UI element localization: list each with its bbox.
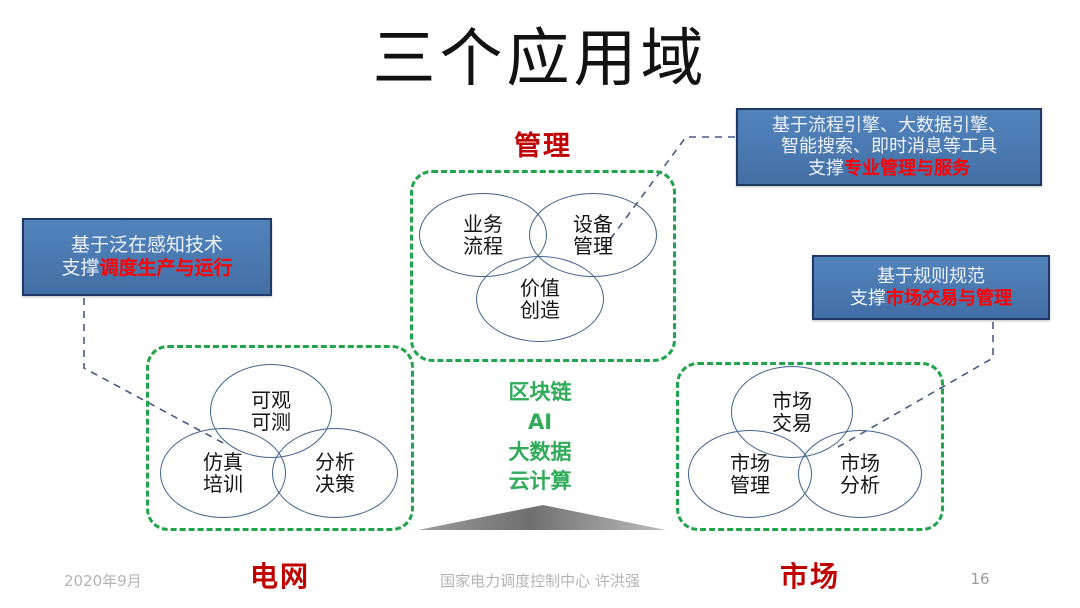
callout-line-1: 基于流程引擎、大数据引擎、 [772,115,1006,137]
ellipse-label: 分析 决策 [315,451,355,496]
ellipse-value-creation[interactable]: 价值 创造 [476,256,604,342]
ellipse-market-analysis[interactable]: 市场 分析 [798,430,922,518]
ellipse-label: 仿真 培训 [203,451,243,496]
ellipse-label: 市场 交易 [772,390,812,435]
ellipse-market-management[interactable]: 市场 管理 [688,430,812,518]
tech-stack-item-blockchain: 区块链 [470,378,610,408]
callout-line-2: 支撑调度生产与运行 [61,257,232,280]
callout-line-2-highlight: 调度生产与运行 [100,257,233,279]
ellipse-label: 业务 流程 [463,213,503,258]
tech-stack-list: 区块链 AI 大数据 云计算 [470,378,610,497]
footer-author: 国家电力调度控制中心 许洪强 [0,570,1080,591]
callout-management-domain[interactable]: 基于流程引擎、大数据引擎、 智能搜索、即时消息等工具 支撑专业管理与服务 [736,108,1042,186]
ellipse-analysis-decision[interactable]: 分析 决策 [272,428,398,518]
ellipse-label: 可观 可测 [251,389,291,434]
callout-line-2-highlight: 市场交易与管理 [886,288,1012,309]
mountain-triangle-shape [418,505,666,530]
callout-line-3: 支撑专业管理与服务 [808,158,970,180]
callout-line-2-prefix: 支撑 [61,257,99,279]
ellipse-simulation-training[interactable]: 仿真 培训 [160,428,286,518]
callout-market-domain[interactable]: 基于规则规范 支撑市场交易与管理 [812,255,1050,320]
callout-line-1: 基于规则规范 [877,266,985,288]
slide-canvas: 三个应用域 管理 业务 流程 设备 管理 价值 创造 电网 可观 可测 [0,0,1080,608]
callout-line-2-prefix: 支撑 [850,288,886,309]
callout-line-1: 基于泛在感知技术 [71,234,223,257]
tech-stack-item-cloud: 云计算 [470,467,610,497]
footer-page-number: 16 [940,570,1020,588]
ellipse-label: 市场 分析 [840,452,880,497]
callout-line-2: 支撑市场交易与管理 [850,288,1012,310]
region-label-management: 管理 [410,124,676,163]
callout-line-3-highlight: 专业管理与服务 [844,158,970,179]
ellipse-label: 市场 管理 [730,452,770,497]
ellipse-label: 设备 管理 [573,213,613,258]
callout-line-3-prefix: 支撑 [808,158,844,179]
callout-grid-domain[interactable]: 基于泛在感知技术 支撑调度生产与运行 [22,218,272,296]
callout-line-2: 智能搜索、即时消息等工具 [781,136,997,158]
tech-stack-item-bigdata: 大数据 [470,438,610,468]
tech-stack-item-ai: AI [470,408,610,438]
ellipse-label: 价值 创造 [520,277,560,322]
